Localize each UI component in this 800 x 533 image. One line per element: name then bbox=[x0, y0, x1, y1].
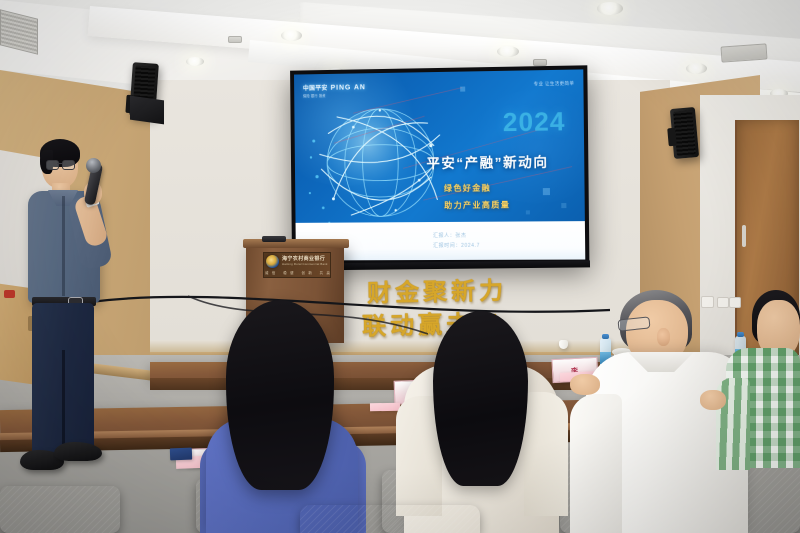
ceiling-air-diffuser bbox=[720, 43, 767, 62]
red-object-on-cabinet bbox=[4, 290, 15, 298]
slide-subtitle-line1: 绿色好金融 bbox=[444, 182, 491, 193]
ceiling-vent bbox=[228, 36, 242, 43]
slide-tagline: 专业 让生活更简单 bbox=[534, 81, 575, 88]
water-bottle-cap[interactable] bbox=[602, 334, 609, 339]
notebook[interactable] bbox=[170, 448, 192, 461]
pingan-logo: 中国平安PING AN 保险 银行 投资 bbox=[303, 82, 366, 98]
office-chair[interactable] bbox=[0, 486, 120, 533]
presenter-shirt-placket bbox=[62, 196, 65, 296]
lectern-top bbox=[243, 239, 349, 248]
slide-year: 2024 bbox=[503, 106, 566, 138]
ceiling-downlight bbox=[281, 30, 302, 41]
ceiling-downlight bbox=[597, 2, 623, 15]
logo-en: PING AN bbox=[331, 84, 366, 92]
ceiling-downlight bbox=[497, 46, 519, 57]
right-speaker-bracket bbox=[667, 128, 677, 147]
small-cup[interactable] bbox=[559, 340, 568, 349]
slide-accent-square bbox=[561, 203, 566, 208]
attendee-ear bbox=[657, 328, 670, 346]
foreground-chair[interactable] bbox=[300, 505, 480, 533]
slide-subtitle-line2: 助力产业高质量 bbox=[444, 199, 510, 211]
water-bottle-cap[interactable] bbox=[737, 332, 744, 337]
lectern-org-name-cn: 海宁农村商业银行 bbox=[282, 255, 325, 262]
slide-presenter-line: 汇报人：张杰 bbox=[433, 232, 467, 239]
lectern-footer-words: 诚信 稳健 创新 共赢 bbox=[265, 270, 333, 275]
ceiling-downlight bbox=[186, 57, 204, 66]
trouser-seam bbox=[62, 350, 65, 455]
projection-screen: 中国平安PING AN 保险 银行 投资 专业 让生活更简单 2024 平安“产… bbox=[290, 65, 589, 264]
ceiling-downlight bbox=[686, 63, 707, 74]
presenter-glasses bbox=[46, 160, 76, 169]
attendee-hand bbox=[570, 374, 600, 395]
lectern-microphone-base bbox=[262, 236, 286, 242]
wall-outlet[interactable] bbox=[701, 296, 714, 308]
door-handle[interactable] bbox=[742, 225, 746, 247]
presentation-slide: 中国平安PING AN 保险 银行 投资 专业 让生活更简单 2024 平安“产… bbox=[294, 69, 585, 260]
wall-outlet[interactable] bbox=[729, 297, 741, 308]
slide-accent-square bbox=[460, 87, 465, 92]
pink-handout[interactable] bbox=[370, 403, 400, 412]
wall-outlet[interactable] bbox=[717, 297, 729, 308]
slide-date-line: 汇报时间：2024.7 bbox=[433, 242, 480, 249]
logo-subtext: 保险 银行 投资 bbox=[303, 92, 366, 98]
slide-title: 平安“产融”新动向 bbox=[426, 151, 548, 172]
attendee-arm bbox=[570, 394, 622, 533]
attendee-hand bbox=[700, 390, 726, 410]
slide-accent-square bbox=[526, 210, 530, 214]
wall-monitor bbox=[130, 96, 164, 125]
attendee-hair bbox=[226, 300, 334, 490]
lectern-org-name-en: Haining Rural Commercial Bank bbox=[282, 262, 328, 266]
ceiling-vent bbox=[533, 59, 547, 66]
slide-accent-square bbox=[543, 188, 550, 195]
presenter-shoe-right bbox=[54, 442, 102, 461]
bank-emblem-icon bbox=[266, 255, 279, 268]
conference-room-photo: 中国平安PING AN 保险 银行 投资 专业 让生活更简单 2024 平安“产… bbox=[0, 0, 800, 533]
attendee-arm bbox=[524, 392, 568, 516]
logo-cn: 中国平安 bbox=[303, 86, 328, 92]
attendee-hair bbox=[433, 311, 528, 486]
